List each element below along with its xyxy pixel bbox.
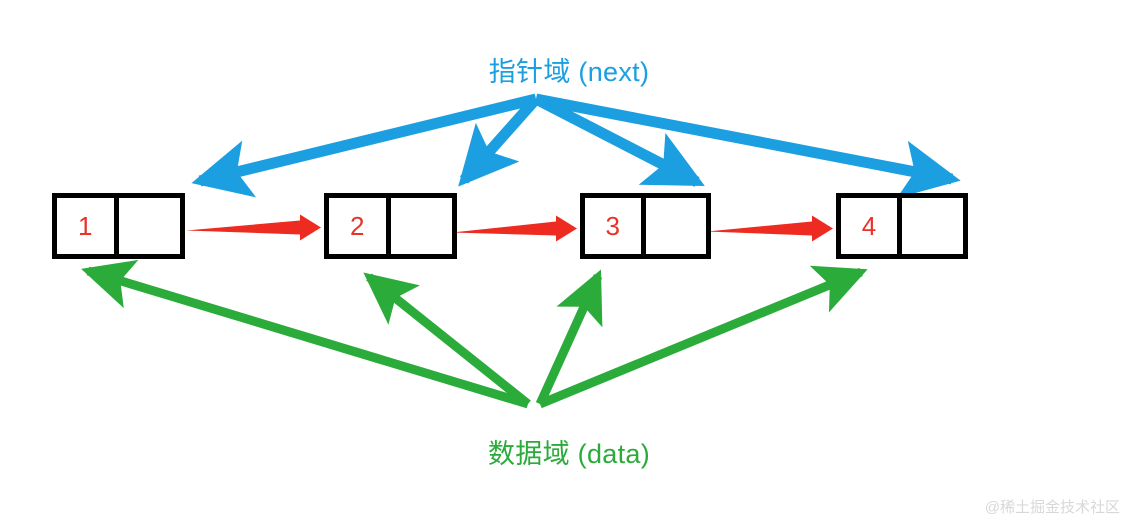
node-2-data-cell: 2 [329,198,391,254]
node-3-next-cell [646,198,707,254]
list-node-4[interactable]: 4 [836,193,968,259]
node-1-next-cell [119,198,181,254]
pointer-arrow-group [200,99,952,182]
link-arrow-node-3-to-node-4 [707,216,833,242]
data-arrow-group [88,271,861,404]
link-arrow-node-2-to-node-3 [452,216,577,242]
link-arrow-node-1-to-node-2 [186,215,321,241]
node-2-data-value: 2 [350,211,364,242]
diagram-canvas: 1 2 3 4 指针域 (next) 数据域 (data) @稀土掘金技术社区 [0,0,1138,527]
node-1-data-value: 1 [78,211,92,242]
watermark: @稀土掘金技术社区 [985,496,1120,517]
node-2-next-cell [391,198,453,254]
node-4-data-cell: 4 [841,198,902,254]
node-3-data-value: 3 [606,211,620,242]
pointer-field-label: 指针域 (next) [0,50,1138,89]
node-4-next-cell [902,198,963,254]
node-4-data-value: 4 [862,211,876,242]
data-arrow-to-node-1 [88,271,528,404]
list-node-3[interactable]: 3 [580,193,711,259]
node-3-data-cell: 3 [585,198,646,254]
link-arrow-group [186,215,833,242]
data-field-label: 数据域 (data) [0,432,1138,471]
list-node-2[interactable]: 2 [324,193,457,259]
pointer-arrow-to-node-1 [200,99,536,181]
node-1-data-cell: 1 [57,198,119,254]
data-arrow-to-node-2 [369,277,528,404]
list-node-1[interactable]: 1 [52,193,185,259]
pointer-arrow-to-node-4 [536,99,952,179]
